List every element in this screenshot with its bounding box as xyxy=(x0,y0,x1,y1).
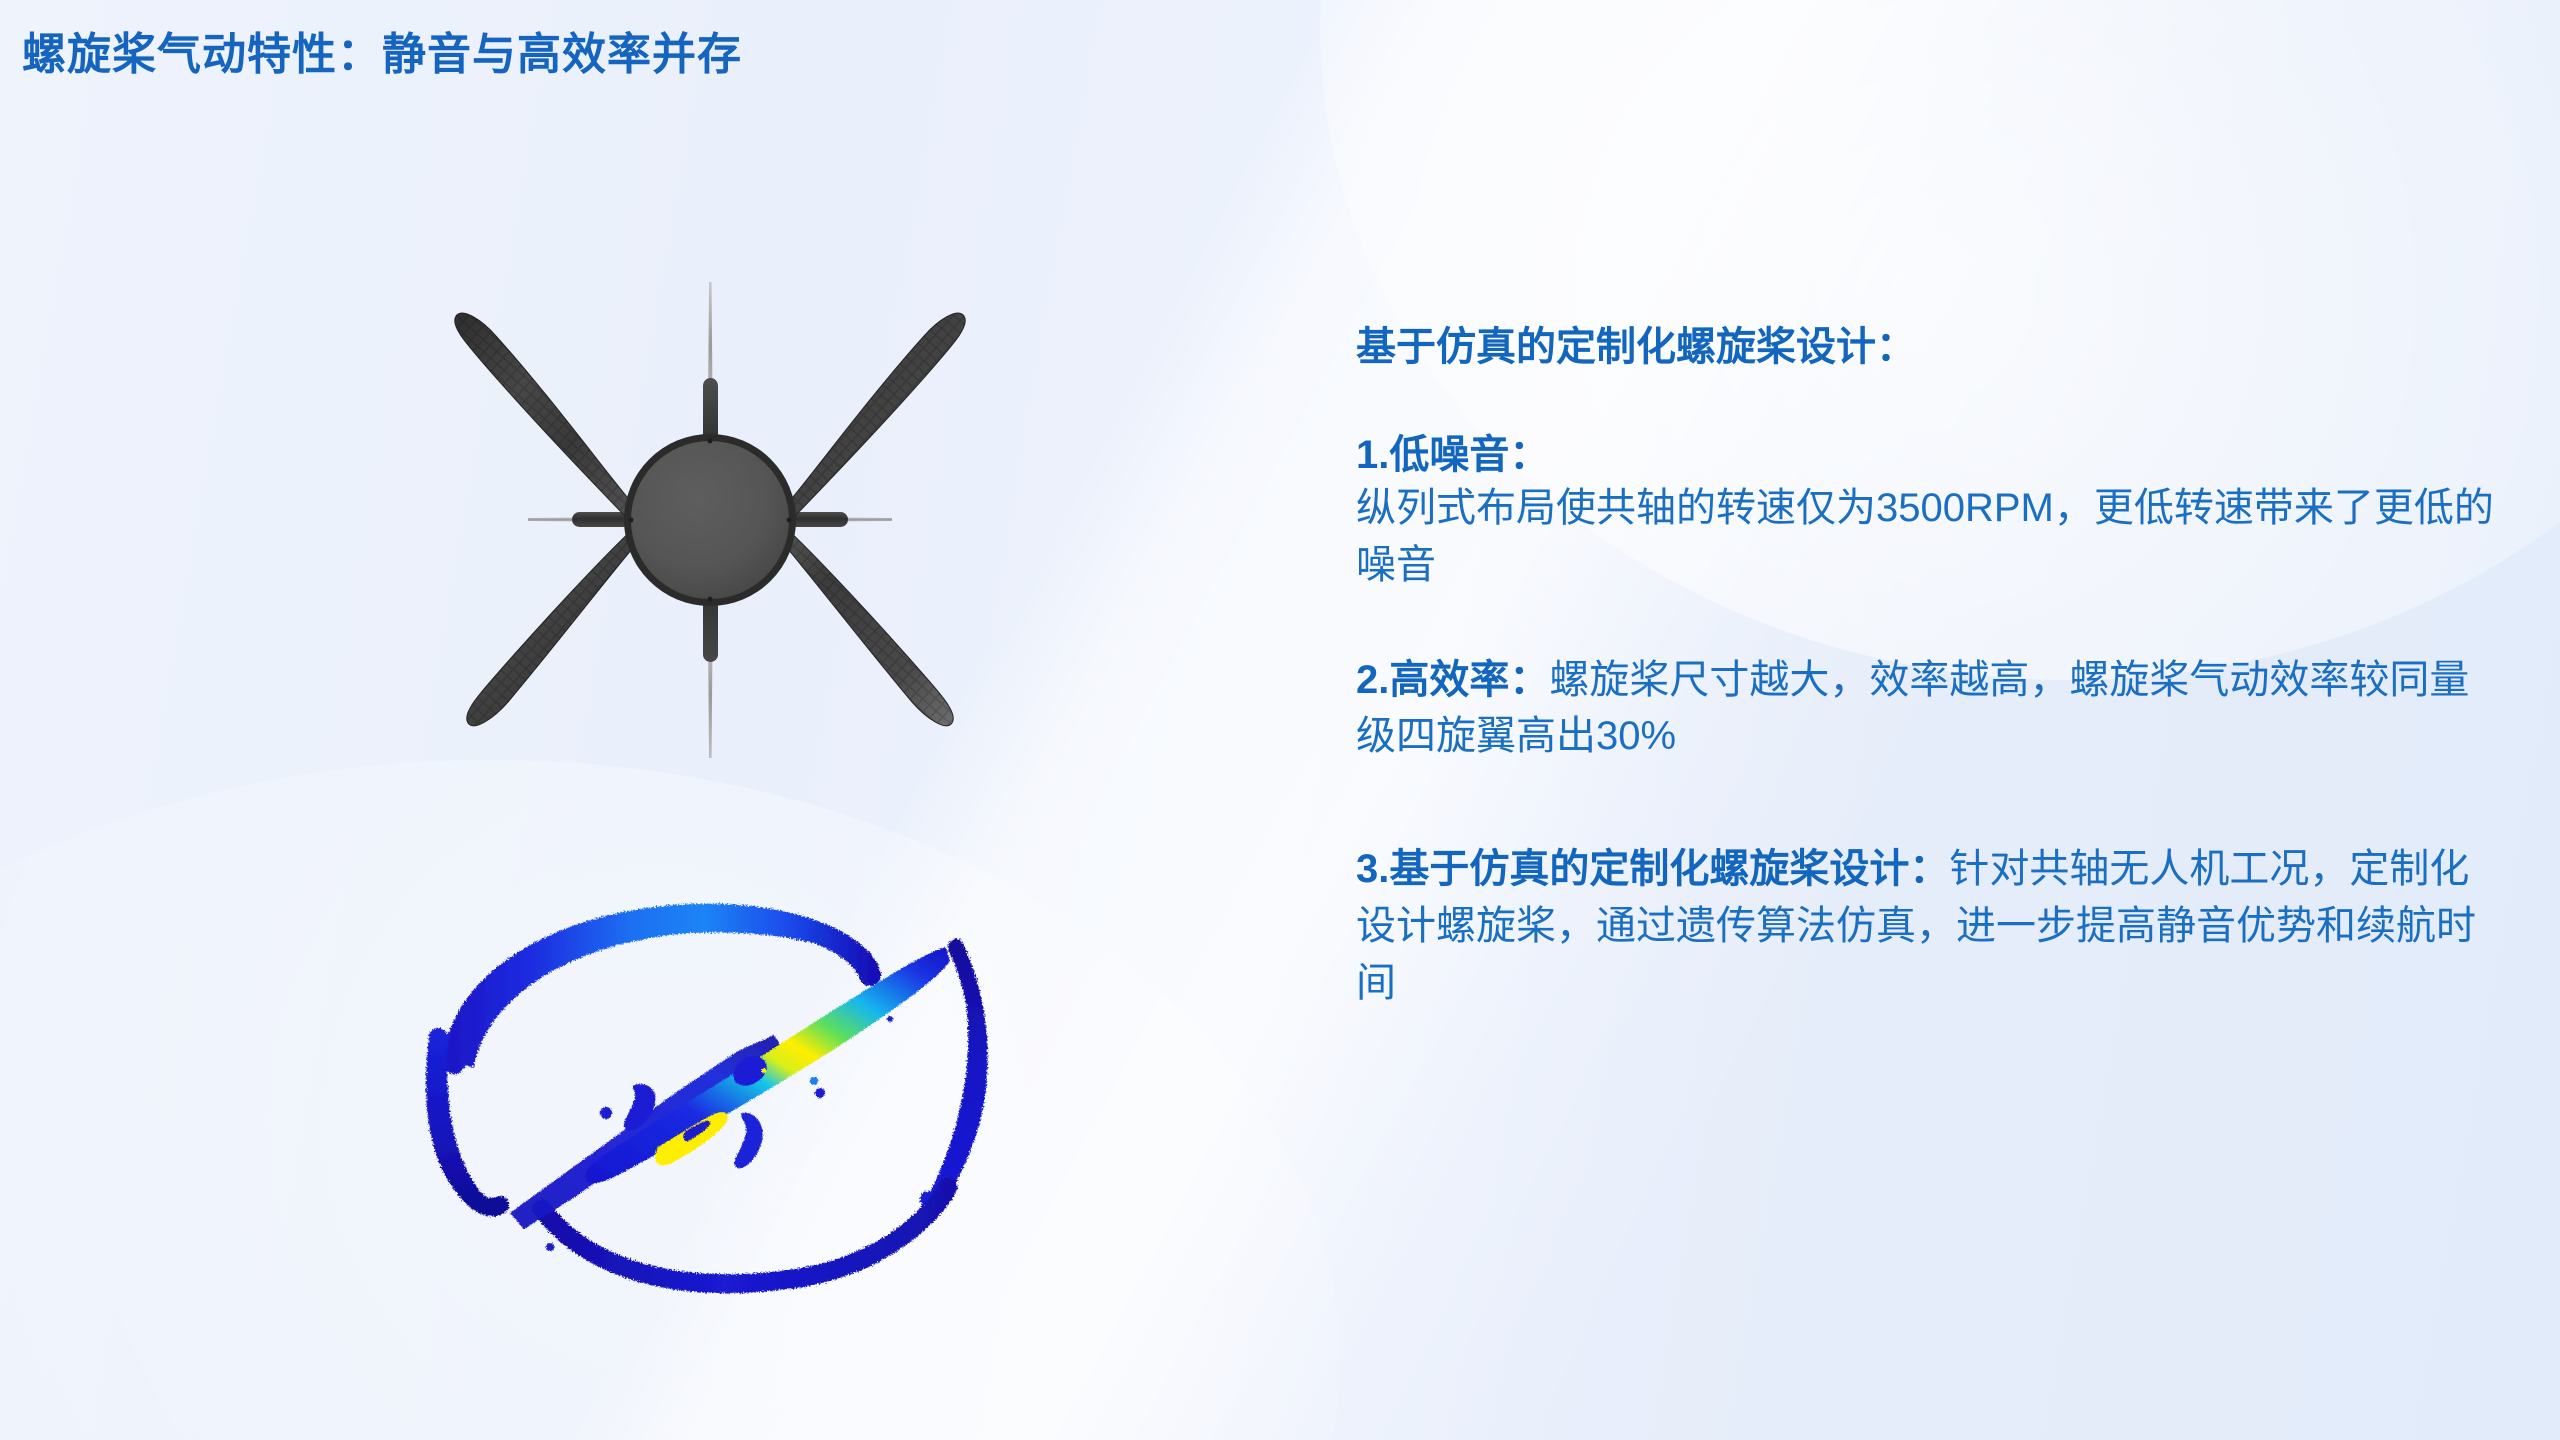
cfd-simulation-image xyxy=(390,885,1030,1315)
item-1-number: 1. xyxy=(1356,433,1389,477)
propeller-svg xyxy=(400,210,1020,830)
propeller-image xyxy=(400,210,1020,830)
slide-canvas: 螺旋桨气动特性：静音与高效率并存 xyxy=(0,0,2560,1440)
list-item: 2.高效率：螺旋桨尺寸越大，效率越高，螺旋桨气动效率较同量级四旋翼高出30% xyxy=(1356,652,2496,766)
content-heading: 基于仿真的定制化螺旋桨设计： xyxy=(1356,322,2496,372)
spacer xyxy=(1356,594,2496,652)
spacer xyxy=(1356,372,2496,430)
spacer xyxy=(1356,765,2496,841)
item-2-title: 高效率： xyxy=(1389,658,1549,702)
item-1-body: 纵列式布局使共轴的转速仅为3500RPM，更低转速带来了更低的噪音 xyxy=(1356,480,2496,594)
list-item: 1.低噪音： 纵列式布局使共轴的转速仅为3500RPM，更低转速带来了更低的噪音 xyxy=(1356,430,2496,594)
item-2-number: 2. xyxy=(1356,658,1389,702)
item-1-title-line: 1.低噪音： xyxy=(1356,430,2496,480)
propeller-hub xyxy=(624,434,796,606)
content-column: 基于仿真的定制化螺旋桨设计： 1.低噪音： 纵列式布局使共轴的转速仅为3500R… xyxy=(1356,322,2496,1012)
item-3-number: 3. xyxy=(1356,847,1389,891)
list-item: 3.基于仿真的定制化螺旋桨设计：针对共轴无人机工况，定制化设计螺旋桨，通过遗传算… xyxy=(1356,841,2496,1011)
item-3-title: 基于仿真的定制化螺旋桨设计： xyxy=(1389,847,1949,891)
item-1-title: 低噪音： xyxy=(1389,433,1549,477)
blade-wake-group xyxy=(510,947,950,1251)
cfd-svg xyxy=(390,885,1030,1315)
page-title: 螺旋桨气动特性：静音与高效率并存 xyxy=(22,18,742,82)
